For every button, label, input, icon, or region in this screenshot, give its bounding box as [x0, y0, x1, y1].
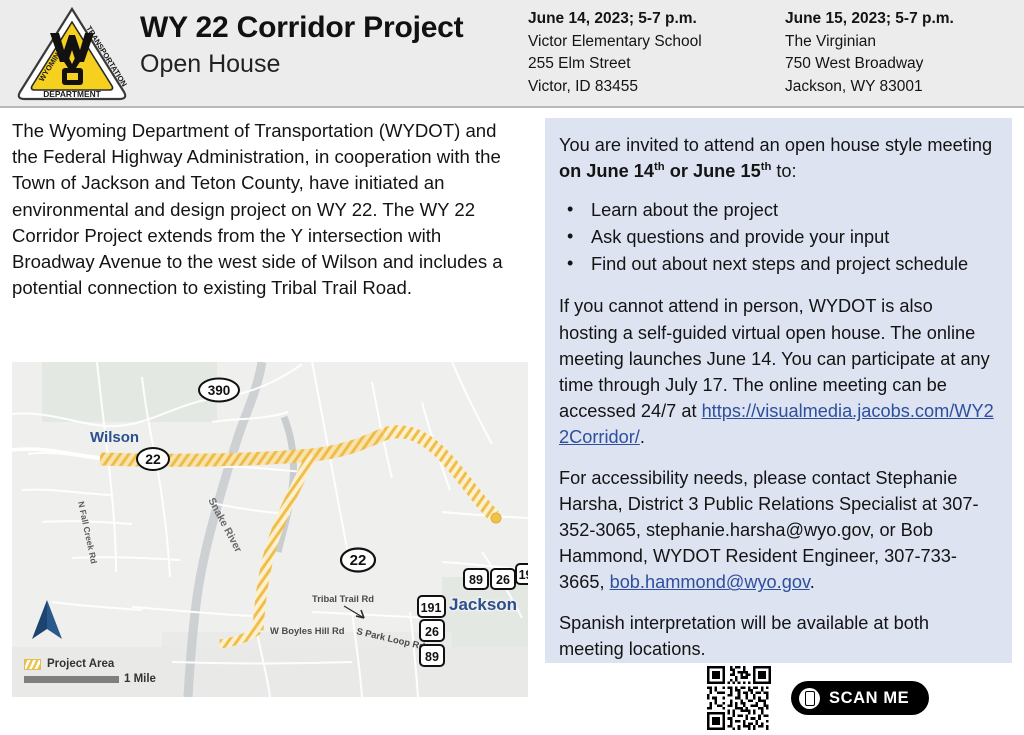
svg-text:26: 26	[425, 625, 439, 639]
list-item: Ask questions and provide your input	[559, 224, 994, 251]
benefits-list: Learn about the project Ask questions an…	[559, 197, 994, 278]
list-item: Find out about next steps and project sc…	[559, 251, 994, 278]
svg-text:390: 390	[208, 383, 231, 398]
meeting-2-street: 750 West Broadway	[785, 53, 954, 76]
legend-project-area-label: Project Area	[47, 658, 114, 670]
qr-section[interactable]: SCAN ME	[705, 666, 929, 730]
svg-text:Jackson: Jackson	[449, 595, 517, 614]
svg-text:191: 191	[421, 601, 442, 615]
invite-mid: or June 15	[665, 161, 761, 181]
qr-code-icon[interactable]	[705, 666, 773, 730]
spanish-interpretation-paragraph: Spanish interpretation will be available…	[559, 610, 994, 662]
svg-text:Tribal Trail Rd: Tribal Trail Rd	[312, 593, 374, 604]
scale-bar-icon	[24, 676, 119, 683]
legend-project-area: Project Area	[24, 658, 156, 670]
svg-text:89: 89	[469, 573, 483, 587]
scale-label: 1 Mile	[124, 673, 156, 685]
page-header: WYOMING TRANSPORTATION DEPARTMENT WY 22 …	[0, 0, 1024, 108]
phone-icon	[799, 688, 820, 709]
meeting-1-city: Victor, ID 83455	[528, 76, 702, 99]
virtual-openhouse-paragraph: If you cannot attend in person, WYDOT is…	[559, 293, 994, 450]
project-map[interactable]: Wilson Jackson N Fall Creek Rd Snake Riv…	[12, 362, 528, 697]
invite-post: to:	[771, 161, 796, 181]
meeting-info-1: June 14, 2023; 5-7 p.m. Victor Elementar…	[528, 8, 702, 98]
meeting-1-date: June 14, 2023; 5-7 p.m.	[528, 8, 702, 31]
project-area-swatch-icon	[24, 659, 41, 670]
page-title: WY 22 Corridor Project	[140, 10, 463, 46]
invite-pre: You are invited to attend an open house …	[559, 135, 992, 155]
svg-text:W Boyles Hill Rd: W Boyles Hill Rd	[270, 625, 345, 636]
map-legend: Project Area 1 Mile	[24, 658, 156, 685]
invite-sup-2: th	[761, 161, 772, 173]
meeting-info-2: June 15, 2023; 5-7 p.m. The Virginian 75…	[785, 8, 954, 98]
accessibility-paragraph: For accessibility needs, please contact …	[559, 465, 994, 596]
svg-text:22: 22	[350, 552, 367, 569]
svg-text:DEPARTMENT: DEPARTMENT	[43, 89, 101, 99]
virtual-tail: .	[640, 427, 645, 447]
invite-date-1: on June 14	[559, 161, 654, 181]
title-block: WY 22 Corridor Project Open House	[140, 10, 463, 80]
bob-hammond-email-link[interactable]: bob.hammond@wyo.gov	[610, 572, 810, 592]
svg-text:Wilson: Wilson	[90, 429, 139, 446]
meeting-2-venue: The Virginian	[785, 31, 954, 54]
meeting-1-street: 255 Elm Street	[528, 53, 702, 76]
list-item: Learn about the project	[559, 197, 994, 224]
meeting-2-date: June 15, 2023; 5-7 p.m.	[785, 8, 954, 31]
intro-paragraph: The Wyoming Department of Transportation…	[12, 118, 517, 301]
meeting-1-venue: Victor Elementary School	[528, 31, 702, 54]
svg-text:22: 22	[145, 451, 161, 467]
invite-sup-1: th	[654, 161, 665, 173]
wydot-logo: WYOMING TRANSPORTATION DEPARTMENT	[14, 4, 130, 104]
map-scale-bar: 1 Mile	[24, 673, 156, 685]
scan-me-label: SCAN ME	[829, 689, 909, 708]
scan-me-badge[interactable]: SCAN ME	[791, 681, 929, 715]
meeting-2-city: Jackson, WY 83001	[785, 76, 954, 99]
left-column: The Wyoming Department of Transportation…	[12, 118, 524, 301]
north-arrow-icon	[30, 599, 64, 641]
svg-text:191: 191	[519, 568, 528, 582]
svg-text:26: 26	[496, 573, 510, 587]
accessibility-tail: .	[810, 572, 815, 592]
info-panel: You are invited to attend an open house …	[545, 118, 1012, 663]
invitation-paragraph: You are invited to attend an open house …	[559, 132, 994, 184]
svg-text:89: 89	[425, 650, 439, 664]
page-subtitle: Open House	[140, 48, 463, 80]
